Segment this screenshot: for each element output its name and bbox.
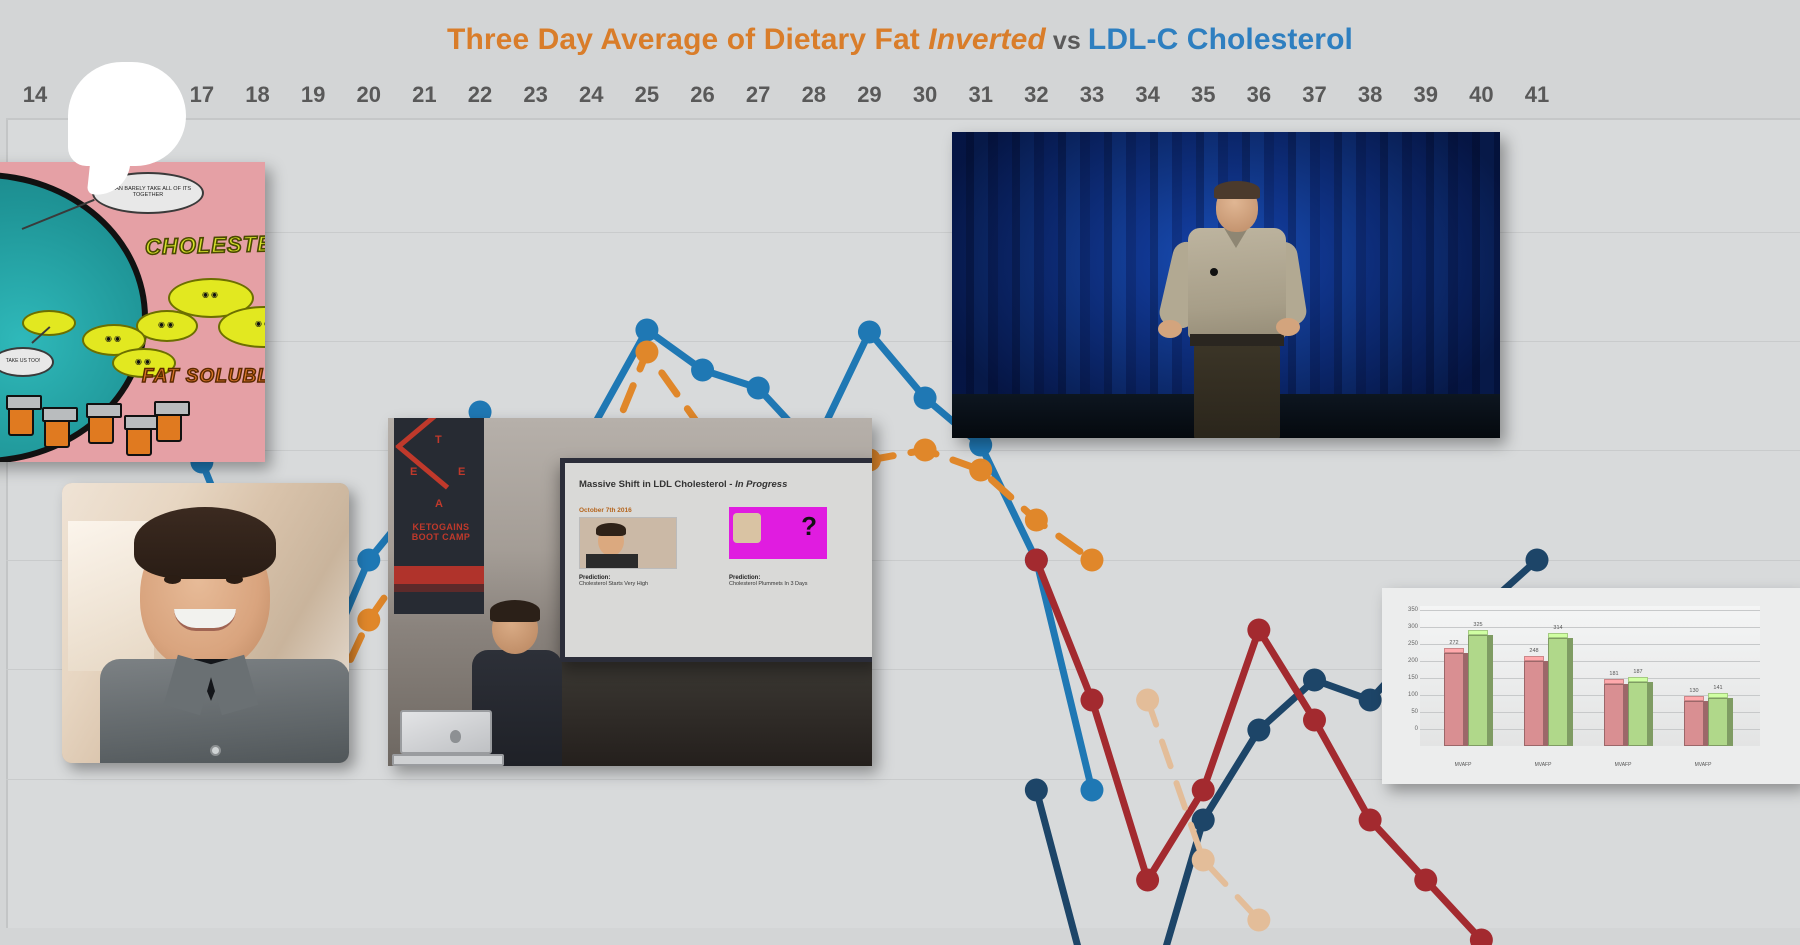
cartoon-blob [22, 310, 76, 336]
slide-question-mark: ? [801, 511, 817, 542]
banner-accent-bar [394, 584, 484, 592]
data-point [1247, 619, 1270, 642]
bar-top-face [1548, 633, 1568, 638]
bar-chart-y-tick: 350 [1388, 607, 1418, 613]
data-point [635, 341, 658, 364]
bar-chart-x-tick: MVAFP [1682, 762, 1724, 768]
cartoon-cholesterol-label: CHOLESTEROL [145, 230, 265, 261]
data-point [1359, 689, 1382, 712]
presentation-slide: Massive Shift in LDL Cholesterol - In Pr… [560, 458, 872, 662]
bar-chart-x-tick: MVAFP [1602, 762, 1644, 768]
data-point [1414, 869, 1437, 892]
data-point [1303, 669, 1326, 692]
data-point [914, 439, 937, 462]
bar-value-label: 248 [1521, 648, 1547, 654]
data-point [1080, 779, 1103, 802]
laptop-base [392, 754, 504, 766]
bar-top-face [1444, 648, 1464, 653]
slide-right-prediction: Cholesterol Plummets In 3 Days [729, 581, 865, 588]
bar-front [1444, 653, 1464, 746]
data-point [914, 387, 937, 410]
selfie-shirt-button [210, 745, 221, 756]
blob-face: ◉◉ [158, 320, 176, 329]
selfie-eye-left [164, 575, 181, 584]
bar-side-face [1648, 682, 1653, 746]
banner-letter-bottom: A [435, 498, 443, 510]
banner-letter-left: E [410, 466, 417, 478]
blob-face: ◉◉ [105, 334, 123, 343]
bar-chart-y-tick: 200 [1388, 658, 1418, 664]
cartoon-fat-soluble-label: FAT SOLUBLE VITAMINS [142, 367, 265, 388]
slide-column-left: October 7th 2016 Prediction: Cholesterol… [579, 507, 715, 588]
selfie-portrait-image[interactable] [62, 483, 349, 763]
speaker-hand-left [1158, 320, 1182, 338]
data-point [1080, 689, 1103, 712]
banner-accent-bar [394, 566, 484, 584]
data-point [357, 549, 380, 572]
slide-figure-cutout [733, 513, 761, 543]
banner-x-stroke [395, 443, 449, 489]
cartoon-pill-bottle [88, 410, 114, 444]
data-point [1303, 709, 1326, 732]
photo-hair [596, 523, 626, 536]
cartoon-pill-bottle [8, 402, 34, 436]
bar-top-face [1708, 693, 1728, 698]
bar-chart-y-tick: 100 [1388, 692, 1418, 698]
speaker-belt [1190, 334, 1284, 346]
data-point [1136, 869, 1159, 892]
bar-chart-y-tick: 300 [1388, 624, 1418, 630]
bar-side-face [1568, 638, 1573, 746]
bar-front [1548, 638, 1568, 746]
bar-chart-gridline [1420, 610, 1760, 611]
selfie-eye-right [226, 575, 243, 584]
blob-face: ◉◉ [202, 290, 220, 299]
data-point [1359, 809, 1382, 832]
chart-canvas: Three Day Average of Dietary Fat Inverte… [0, 0, 1800, 945]
bar-chart-bar [1684, 701, 1704, 746]
slide-left-prediction: Cholesterol Starts Very High [579, 581, 715, 588]
bar-top-face [1604, 679, 1624, 684]
bar-chart-y-tick: 150 [1388, 675, 1418, 681]
bar-front [1684, 701, 1704, 746]
bar-chart-bar [1548, 638, 1568, 746]
bar-chart-x-tick: MVAFP [1442, 762, 1484, 768]
banner-letter-right: E [458, 466, 465, 478]
bar-top-face [1628, 677, 1648, 682]
banner-letter-top: T [435, 434, 442, 446]
data-point [1080, 549, 1103, 572]
data-point [1526, 549, 1549, 572]
bar-chart-bar [1708, 698, 1728, 746]
bar-chart-bar [1628, 682, 1648, 746]
bar-top-face [1684, 696, 1704, 701]
blob-face: ◉◉ [135, 357, 153, 366]
apple-logo-icon [450, 730, 461, 743]
bar-value-label: 325 [1465, 622, 1491, 628]
bar-chart-thumbnail-image[interactable]: 350300250200150100500 272325248314181187… [1382, 588, 1800, 784]
bar-side-face [1488, 635, 1493, 746]
bar-top-face [1524, 656, 1544, 661]
bar-top-face [1468, 630, 1488, 635]
slide-title-main: Massive Shift in LDL Cholesterol - [579, 479, 735, 490]
cartoon-pill-bottle [156, 408, 182, 442]
bar-chart-bar [1468, 635, 1488, 746]
slide-magenta-placeholder: ? [729, 507, 827, 559]
slide-title: Massive Shift in LDL Cholesterol - In Pr… [579, 479, 865, 490]
bar-front [1708, 698, 1728, 746]
photo-torso [586, 554, 638, 569]
data-point [1247, 909, 1270, 932]
bar-front [1468, 635, 1488, 746]
bar-value-label: 314 [1545, 625, 1571, 631]
presenter-hair [490, 600, 540, 622]
bubble-tail [87, 132, 133, 198]
bar-chart-y-tick: 0 [1388, 726, 1418, 732]
data-point [1025, 509, 1048, 532]
bar-value-label: 141 [1705, 685, 1731, 691]
chart-series-layer [0, 0, 1800, 945]
stage-speaker-figure [1172, 184, 1300, 438]
bar-front [1604, 684, 1624, 746]
bar-value-label: 187 [1625, 669, 1651, 675]
slide-left-photo [579, 517, 677, 569]
stage-speaker-image[interactable] [952, 132, 1500, 438]
speaker-hair [1214, 181, 1260, 199]
speaker-hand-right [1276, 318, 1300, 336]
blob-face: ◉◉ [255, 319, 265, 328]
cartoon-pill-bottle [126, 422, 152, 456]
data-point [1247, 719, 1270, 742]
bar-value-label: 181 [1601, 671, 1627, 677]
data-point [1025, 549, 1048, 572]
bar-value-label: 130 [1681, 688, 1707, 694]
selfie-hair [134, 507, 276, 579]
conference-table [518, 662, 872, 766]
cholesterol-cartoon-image[interactable]: ◉◉ ◉◉ ◉◉ ◉◉ ◉◉ CHOLESTEROL FAT SOLUBLE V… [0, 162, 265, 462]
data-point [357, 609, 380, 632]
data-point [635, 319, 658, 342]
data-point [747, 377, 770, 400]
conference-presentation-image[interactable]: T E E A KETOGAINS BOOT CAMP Massive Shif… [388, 418, 872, 766]
data-point [1025, 779, 1048, 802]
slide-left-date: October 7th 2016 [579, 507, 715, 514]
data-point [1192, 779, 1215, 802]
data-point [691, 359, 714, 382]
bar-side-face [1728, 698, 1733, 746]
bar-chart-bar [1524, 661, 1544, 746]
data-point [969, 459, 992, 482]
bar-front [1628, 682, 1648, 746]
bar-chart-bar [1604, 684, 1624, 746]
patreon-speech-bubble-icon[interactable] [68, 62, 186, 194]
bar-chart-x-tick: MVAFP [1522, 762, 1564, 768]
data-point [1192, 849, 1215, 872]
cartoon-pill-bottle [44, 414, 70, 448]
banner-text: KETOGAINS BOOT CAMP [403, 522, 479, 543]
laptop-lid [400, 710, 492, 754]
bar-value-label: 272 [1441, 640, 1467, 646]
slide-title-italic: In Progress [735, 479, 787, 490]
data-point [1136, 689, 1159, 712]
conference-banner: T E E A KETOGAINS BOOT CAMP [394, 418, 484, 614]
data-point [858, 321, 881, 344]
bar-chart-y-tick: 250 [1388, 641, 1418, 647]
speaker-microphone [1210, 268, 1218, 276]
conference-laptop [392, 710, 504, 766]
speaker-pants [1194, 344, 1280, 438]
bar-chart-y-tick: 50 [1388, 709, 1418, 715]
bar-front [1524, 661, 1544, 746]
bar-chart-bar [1444, 653, 1464, 746]
